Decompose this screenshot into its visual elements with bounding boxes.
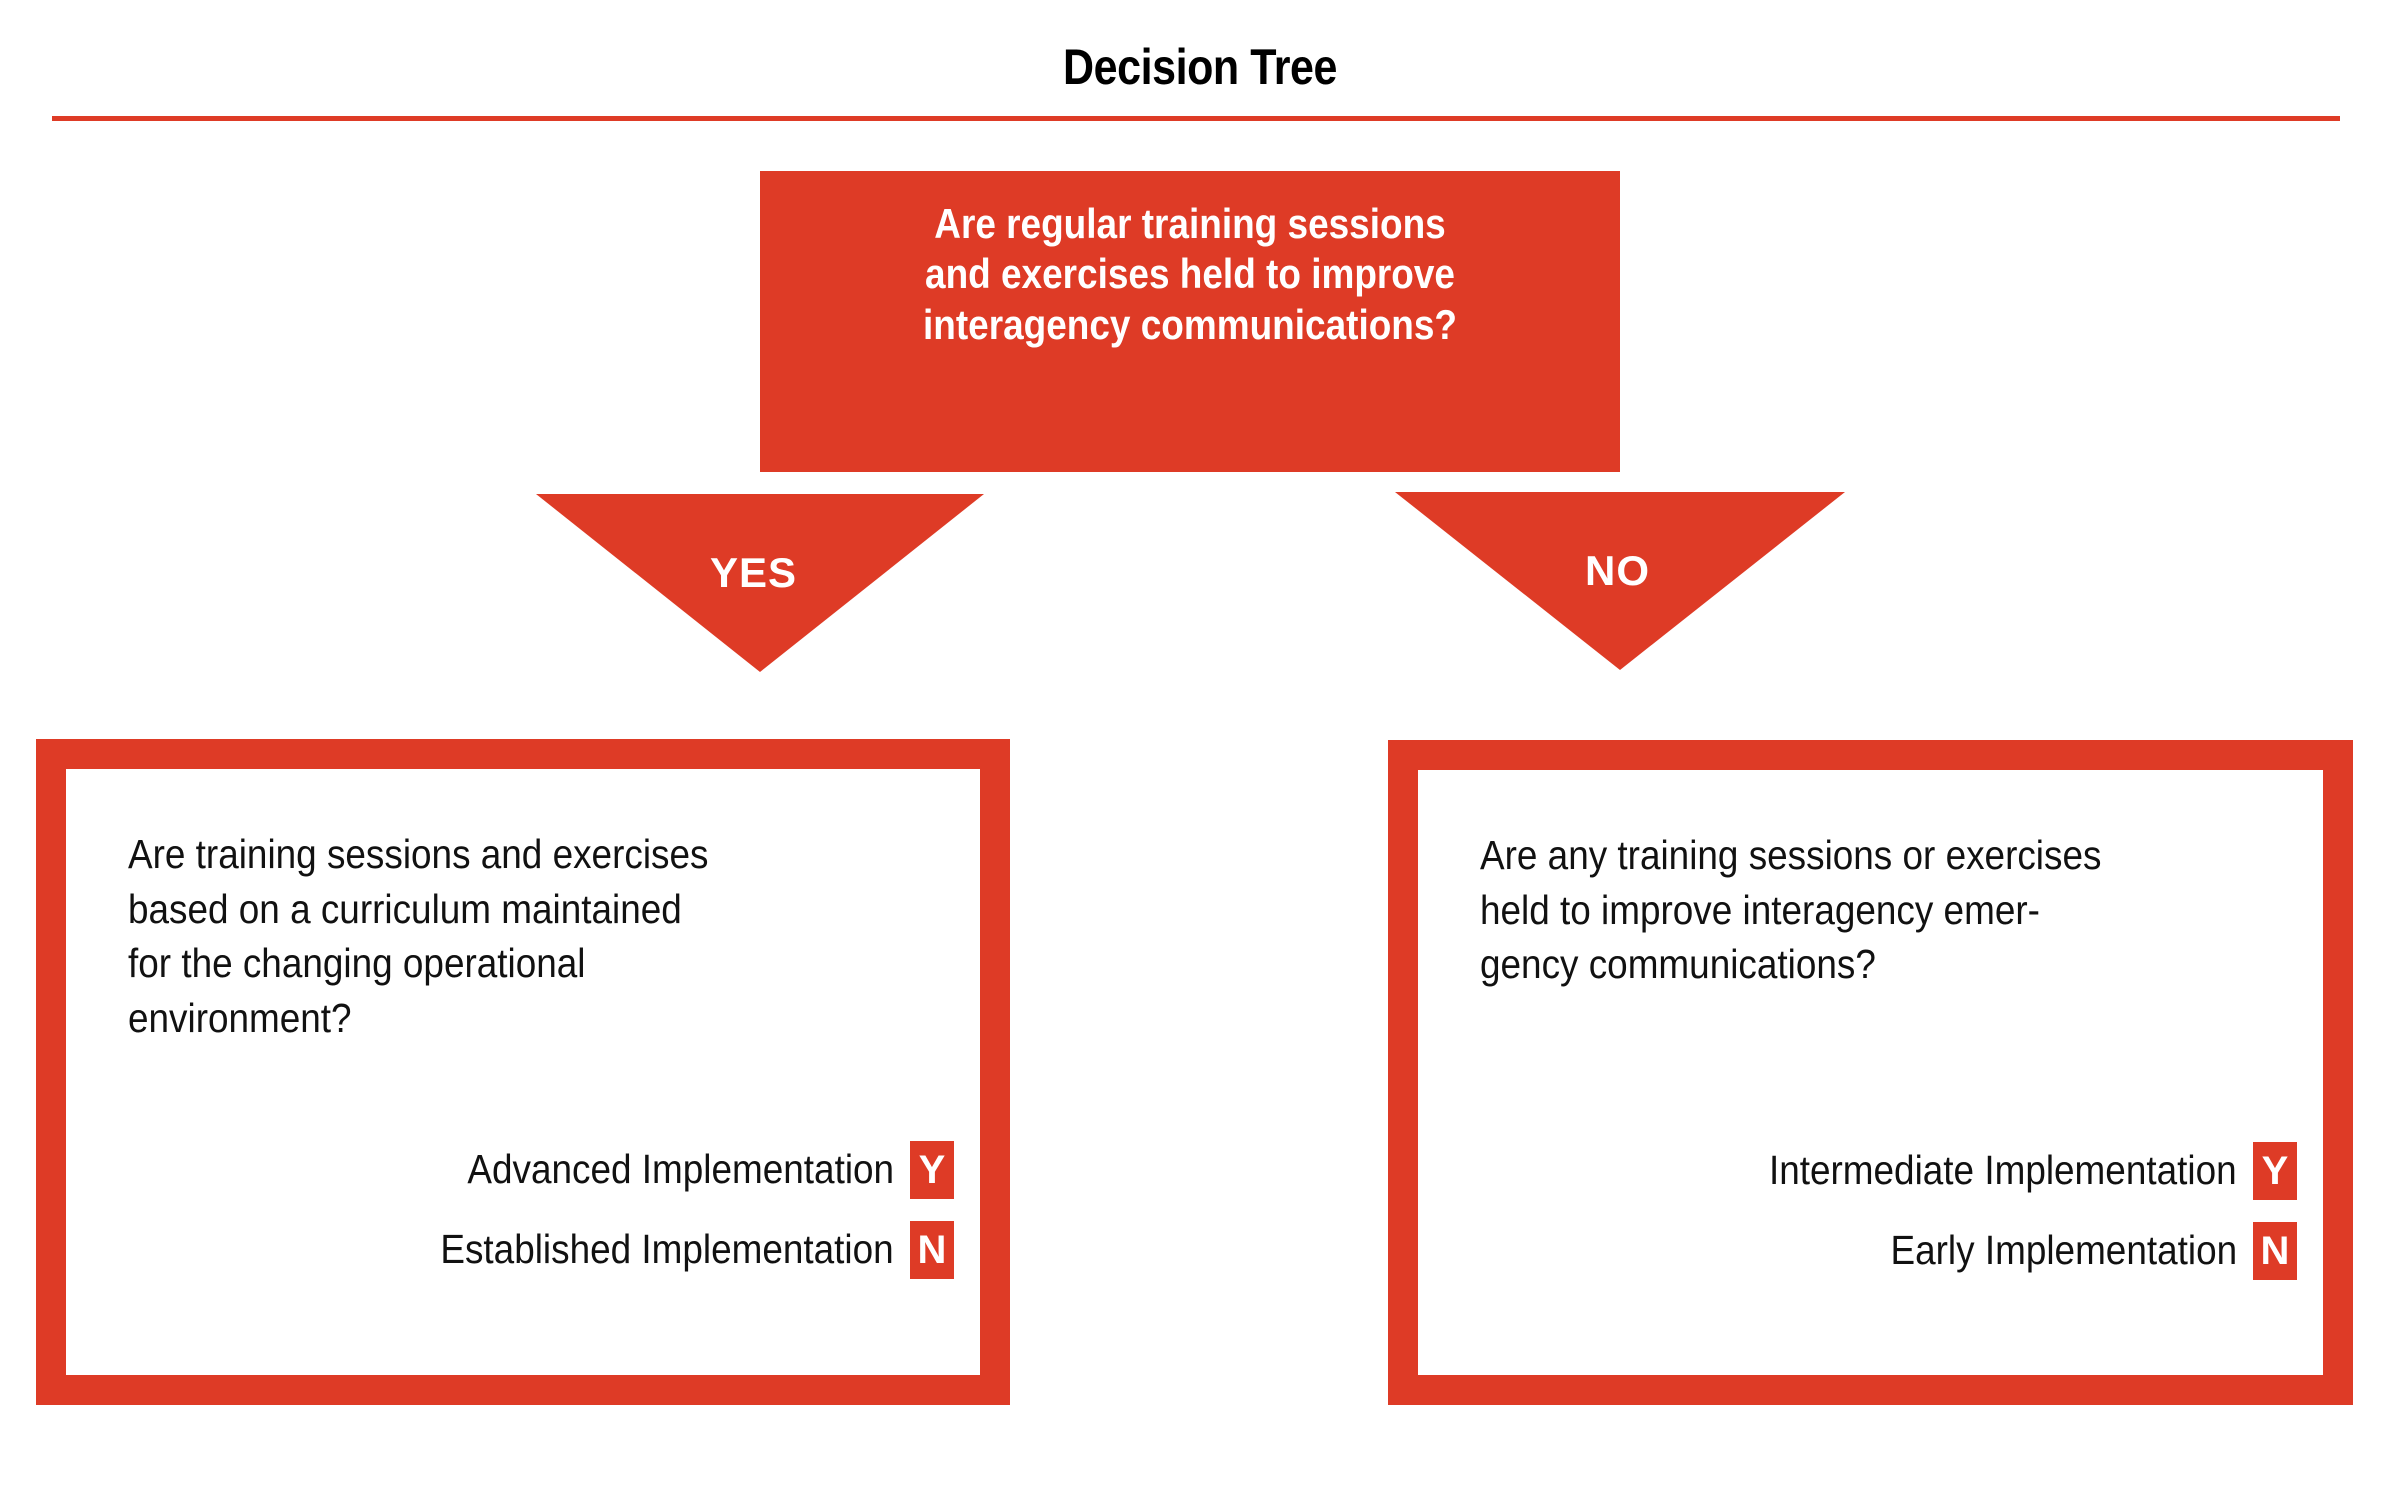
result-label: Advanced Implementation [467, 1147, 894, 1192]
outcome-results-no: Intermediate Implementation Y Early Impl… [1418, 1142, 2297, 1302]
outcome-node-no: Are any training sessions or exercises h… [1388, 740, 2353, 1405]
root-question-text: Are regular training sessions and exerci… [847, 199, 1533, 350]
answer-badge-n: N [2253, 1222, 2297, 1280]
branch-arrow-no: NO [1395, 492, 1845, 670]
branch-arrow-yes: YES [536, 494, 985, 672]
answer-badge-y: Y [910, 1141, 954, 1199]
branch-label-no: NO [1585, 550, 1650, 592]
branch-label-yes: YES [710, 552, 797, 594]
outcome-results-yes: Advanced Implementation Y Established Im… [66, 1141, 954, 1301]
outcome-question-no: Are any training sessions or exercises h… [1480, 828, 2191, 992]
page-title: Decision Tree [168, 42, 2232, 92]
outcome-question-yes: Are training sessions and exercises base… [128, 827, 848, 1045]
result-row: Advanced Implementation Y [66, 1141, 954, 1199]
result-label: Early Implementation [1890, 1228, 2237, 1273]
answer-badge-y: Y [2253, 1142, 2297, 1200]
outcome-node-yes-body: Are training sessions and exercises base… [66, 769, 980, 1375]
result-row: Early Implementation N [1418, 1222, 2297, 1280]
answer-badge-n: N [910, 1221, 954, 1279]
root-question-node: Are regular training sessions and exerci… [760, 171, 1620, 472]
result-row: Intermediate Implementation Y [1418, 1142, 2297, 1200]
header-divider-rule [52, 116, 2340, 121]
result-label: Established Implementation [441, 1227, 894, 1272]
result-label: Intermediate Implementation [1769, 1148, 2237, 1193]
outcome-node-no-body: Are any training sessions or exercises h… [1418, 770, 2323, 1375]
outcome-node-yes: Are training sessions and exercises base… [36, 739, 1010, 1405]
result-row: Established Implementation N [66, 1221, 954, 1279]
